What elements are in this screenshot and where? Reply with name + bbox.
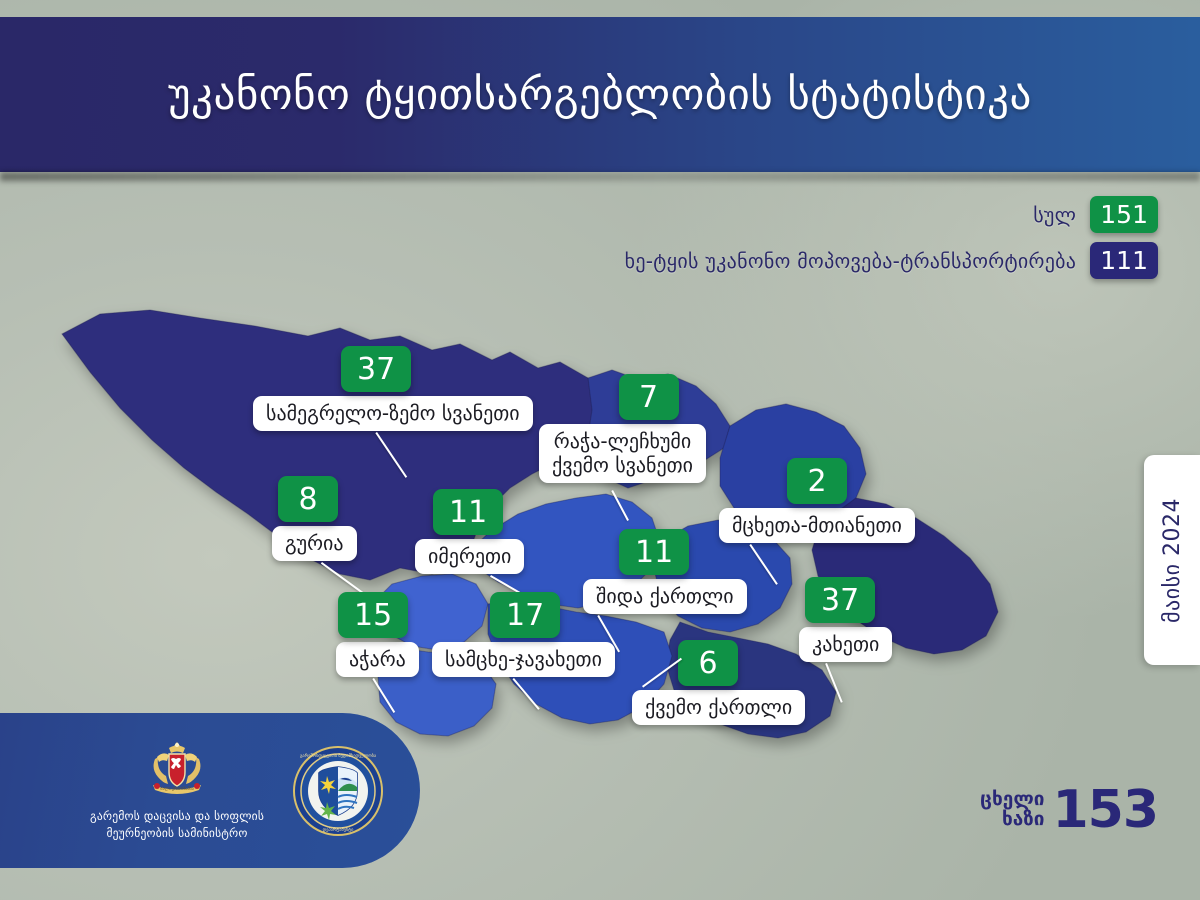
region-value-badge: 17 <box>490 592 560 638</box>
svg-text:დეპარტამენტი: დეპარტამენტი <box>323 826 355 833</box>
callout-kakheti: 37 კახეთი <box>805 577 892 662</box>
timber-value-badge: 111 <box>1090 242 1158 279</box>
total-label: სულ <box>1033 203 1076 227</box>
svg-text:ძალა ერთობაშია: ძალა ერთობაშია <box>160 786 194 791</box>
region-value-badge: 37 <box>805 577 875 623</box>
region-name-label: იმერეთი <box>415 539 524 574</box>
timber-label: ხე-ტყის უკანონო მოპოვება-ტრანსპორტირება <box>625 249 1077 273</box>
region-name-label: გურია <box>272 526 357 561</box>
environmental-agency-seal-icon: გარემოსდაცვითი ზედამხედველობა დეპარტამენ… <box>292 745 384 837</box>
month-tab: მაისი 2024 <box>1144 455 1200 665</box>
region-value-badge: 15 <box>338 592 408 638</box>
footer-bar: ძალა ერთობაშია გარემოს დაცვისა და სოფლის… <box>0 713 420 868</box>
region-value-badge: 8 <box>278 476 338 522</box>
hotline-block: ცხელი ხაზი 153 <box>980 780 1158 840</box>
month-tab-label: მაისი 2024 <box>1160 498 1185 623</box>
hotline-number: 153 <box>1052 780 1158 840</box>
region-value-badge: 7 <box>619 374 679 420</box>
svg-text:გარემოსდაცვითი ზედამხედველობა: გარემოსდაცვითი ზედამხედველობა <box>300 752 377 759</box>
callout-kvemo-kartli: 6 ქვემო ქართლი <box>678 640 805 725</box>
region-name-label: სამცხე-ჯავახეთი <box>432 642 615 677</box>
region-name-label: რაჭა-ლეჩხუმი ქვემო სვანეთი <box>539 424 706 483</box>
region-name-label: ქვემო ქართლი <box>632 690 805 725</box>
summary-row-total: სულ 151 <box>1033 196 1158 233</box>
region-value-badge: 11 <box>619 529 689 575</box>
callout-samtskhe-javakheti: 17 სამცხე-ჯავახეთი <box>490 592 615 677</box>
region-name-label: მცხეთა-მთიანეთი <box>719 508 915 543</box>
callout-mtskheta-mtianeti: 2 მცხეთა-მთიანეთი <box>787 458 915 543</box>
region-name-label: აჭარა <box>336 642 419 677</box>
callout-adjara: 15 აჭარა <box>338 592 419 677</box>
callout-imereti: 11 იმერეთი <box>433 489 524 574</box>
region-value-badge: 11 <box>433 489 503 535</box>
callout-racha-lechkhumi: 7 რაჭა-ლეჩხუმი ქვემო სვანეთი <box>591 374 706 483</box>
hotline-label: ცხელი ხაზი <box>980 790 1044 830</box>
callout-samegrelo-zemo-svaneti: 37 სამეგრელო-ზემო სვანეთი <box>341 346 533 431</box>
callout-shida-kartli: 11 შიდა ქართლი <box>619 529 747 614</box>
summary-stats: სულ 151 ხე-ტყის უკანონო მოპოვება-ტრანსპო… <box>625 196 1158 279</box>
total-value-badge: 151 <box>1090 196 1158 233</box>
summary-row-timber: ხე-ტყის უკანონო მოპოვება-ტრანსპორტირება … <box>625 242 1158 279</box>
region-name-label: კახეთი <box>799 627 892 662</box>
ministry-block: ძალა ერთობაშია გარემოს დაცვისა და სოფლის… <box>90 739 264 841</box>
ministry-name-label: გარემოს დაცვისა და სოფლის მეურნეობის სამ… <box>90 808 264 841</box>
region-value-badge: 2 <box>787 458 847 504</box>
callout-guria: 8 გურია <box>278 476 357 561</box>
region-name-label: სამეგრელო-ზემო სვანეთი <box>253 396 533 431</box>
region-value-badge: 6 <box>678 640 738 686</box>
page-title: უკანონო ტყითსარგებლობის სტატისტიკა <box>168 70 1032 120</box>
region-value-badge: 37 <box>341 346 411 392</box>
page-header: უკანონო ტყითსარგებლობის სტატისტიკა <box>0 17 1200 172</box>
georgia-coat-of-arms-icon: ძალა ერთობაშია <box>145 739 209 801</box>
